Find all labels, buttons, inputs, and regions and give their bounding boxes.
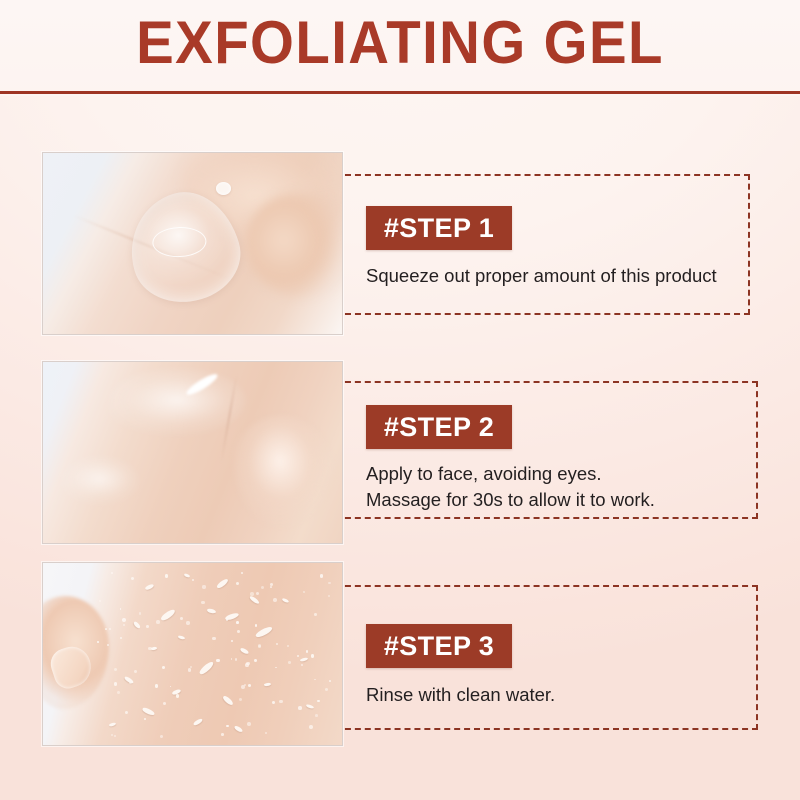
skin-speck	[236, 621, 239, 624]
skin-speck	[170, 686, 172, 688]
skin-speck	[231, 640, 233, 642]
skin-speck	[155, 684, 159, 688]
photo-flake-specks	[43, 563, 342, 745]
header: EXFOLIATING GEL	[0, 0, 800, 96]
skin-speck	[311, 654, 315, 658]
skin-speck	[139, 612, 141, 614]
step-row-1: #STEP 1 Squeeze out proper amount of thi…	[0, 152, 800, 342]
step-2-badge: #STEP 2	[366, 405, 512, 449]
skin-speck	[250, 592, 254, 596]
skin-speck	[298, 706, 302, 710]
skin-speck	[301, 664, 303, 666]
skin-speck	[254, 659, 258, 663]
skin-speck	[221, 733, 224, 736]
skin-speck	[212, 637, 215, 640]
skin-speck	[272, 701, 275, 704]
skin-speck	[276, 643, 278, 645]
step-1-description: Squeeze out proper amount of this produc…	[366, 263, 766, 289]
skin-speck	[237, 630, 240, 633]
skin-speck	[309, 725, 313, 729]
skin-speck	[134, 670, 137, 673]
skin-speck	[241, 685, 245, 689]
skin-speck	[258, 645, 261, 648]
skin-speck	[325, 688, 328, 691]
skin-speck	[279, 700, 283, 704]
skin-speck	[275, 667, 277, 669]
skin-speck	[235, 658, 238, 661]
skin-speck	[329, 680, 331, 682]
skin-speck	[129, 680, 133, 684]
skin-speck	[297, 655, 299, 657]
skin-speck	[114, 682, 118, 686]
skin-speck	[261, 586, 264, 589]
skin-speck	[123, 624, 125, 626]
skin-speck	[320, 574, 324, 578]
skin-speck	[99, 600, 101, 602]
skin-speck	[288, 661, 291, 664]
skin-speck	[148, 647, 151, 650]
skin-speck	[246, 662, 249, 665]
skin-speck	[201, 601, 205, 605]
skin-speck	[120, 608, 122, 610]
skin-speck	[239, 698, 242, 701]
skin-speck	[160, 735, 163, 738]
skin-speck	[306, 650, 309, 653]
skin-speck	[270, 583, 273, 586]
skin-speck	[125, 711, 128, 714]
exfoliating-gel-infographic: EXFOLIATING GEL #STEP 1 Squeeze out prop…	[0, 0, 800, 800]
skin-speck	[156, 620, 160, 624]
skin-speck	[111, 572, 113, 574]
skin-speck	[176, 694, 180, 698]
skin-speck	[287, 645, 289, 647]
skin-speck	[186, 621, 189, 624]
skin-speck	[202, 585, 205, 588]
photo-gel-sheen-lower	[61, 456, 139, 507]
skin-speck	[328, 595, 330, 597]
skin-speck	[255, 624, 258, 627]
step-3-badge: #STEP 3	[366, 624, 512, 668]
step-2-photo	[42, 361, 343, 544]
step-1-badge: #STEP 1	[366, 206, 512, 250]
skin-speck	[256, 592, 260, 596]
skin-speck	[192, 579, 194, 581]
step-3-description: Rinse with clean water.	[366, 682, 766, 708]
skin-speck	[105, 628, 107, 630]
skin-speck	[273, 598, 277, 602]
skin-speck	[111, 734, 113, 736]
skin-speck	[314, 679, 316, 681]
skin-speck	[317, 700, 320, 703]
skin-speck	[241, 572, 243, 574]
skin-speck	[236, 582, 240, 586]
skin-speck	[248, 684, 251, 687]
skin-speck	[314, 613, 317, 616]
skin-speck	[146, 625, 149, 628]
skin-speck	[231, 658, 233, 660]
step-1-photo	[42, 152, 343, 335]
title-divider	[0, 91, 800, 94]
step-row-3: #STEP 3 Rinse with clean water.	[0, 562, 800, 752]
step-row-2: #STEP 2 Apply to face, avoiding eyes. Ma…	[0, 361, 800, 546]
skin-speck	[120, 637, 122, 639]
skin-speck	[114, 735, 116, 737]
skin-speck	[109, 628, 111, 630]
skin-speck	[226, 725, 229, 728]
skin-speck	[107, 644, 109, 646]
skin-speck	[114, 668, 117, 671]
skin-speck	[131, 577, 134, 580]
skin-speck	[303, 591, 305, 593]
skin-speck	[122, 618, 126, 622]
photo-gel-droplet	[216, 182, 231, 195]
page-title: EXFOLIATING GEL	[24, 11, 776, 75]
skin-speck	[226, 619, 228, 621]
skin-speck	[163, 702, 166, 705]
skin-speck	[265, 732, 267, 734]
skin-speck	[165, 574, 169, 578]
skin-speck	[97, 641, 99, 643]
step-2-description: Apply to face, avoiding eyes. Massage fo…	[366, 461, 766, 513]
skin-speck	[270, 586, 272, 588]
skin-speck	[328, 582, 330, 584]
skin-speck	[315, 714, 318, 717]
skin-speck	[144, 718, 146, 720]
skin-speck	[247, 722, 251, 726]
skin-speck	[117, 691, 120, 694]
skin-speck	[162, 666, 165, 669]
skin-speck	[188, 668, 192, 672]
step-3-photo	[42, 562, 343, 746]
skin-speck	[180, 617, 183, 620]
skin-speck	[216, 659, 219, 662]
